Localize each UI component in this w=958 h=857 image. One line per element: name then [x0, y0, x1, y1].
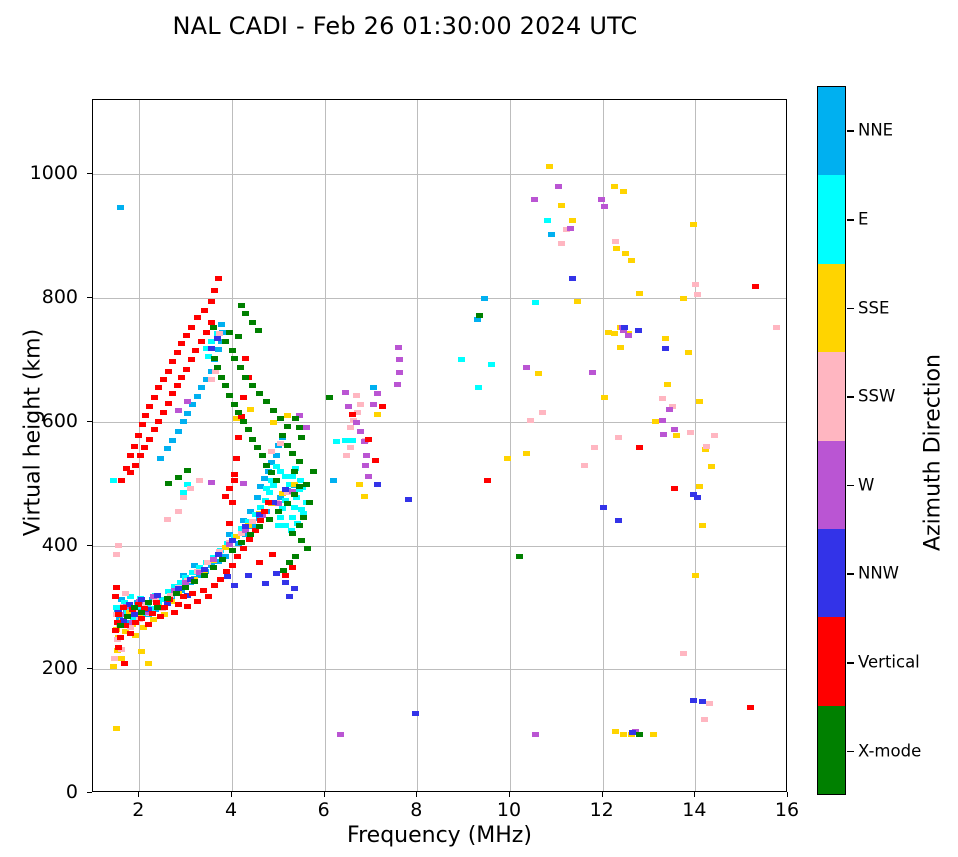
y-axis-tick: [87, 792, 92, 793]
scatter-point: [353, 393, 360, 398]
scatter-point: [184, 399, 191, 404]
scatter-point: [249, 383, 256, 388]
scatter-point: [303, 482, 310, 487]
scatter-point: [261, 476, 268, 481]
scatter-point: [591, 445, 598, 450]
scatter-point: [687, 430, 694, 435]
scatter-point: [773, 325, 780, 330]
scatter-point: [231, 583, 238, 588]
scatter-point: [662, 346, 669, 351]
scatter-point: [235, 334, 242, 339]
scatter-point: [289, 565, 296, 570]
scatter-point: [184, 411, 191, 416]
scatter-point: [690, 698, 697, 703]
scatter-point: [349, 412, 356, 417]
scatter-point: [191, 579, 198, 584]
scatter-point: [370, 385, 377, 390]
scatter-point: [574, 299, 581, 304]
x-axis-tick-label: 12: [590, 799, 614, 821]
scatter-point: [671, 486, 678, 491]
scatter-point: [205, 594, 212, 599]
scatter-point: [171, 610, 178, 615]
scatter-point: [476, 313, 483, 318]
scatter-point: [601, 395, 608, 400]
scatter-point: [226, 486, 233, 491]
scatter-point: [137, 453, 144, 458]
scatter-point: [673, 433, 680, 438]
scatter-point: [210, 565, 217, 570]
scatter-point: [474, 317, 481, 322]
scatter-point: [353, 420, 360, 425]
colorbar-label-w: W: [858, 475, 874, 494]
scatter-point: [535, 371, 542, 376]
colorbar-segment-x-mode[interactable]: [818, 706, 845, 794]
scatter-point: [257, 518, 264, 523]
scatter-point: [277, 441, 284, 446]
colorbar-tick: [847, 662, 854, 664]
scatter-point: [330, 478, 337, 483]
scatter-point: [629, 730, 636, 735]
scatter-point: [696, 484, 703, 489]
scatter-point: [122, 591, 129, 596]
scatter-point: [229, 348, 236, 353]
scatter-point: [270, 483, 277, 488]
scatter-point: [145, 661, 152, 666]
scatter-point: [396, 370, 403, 375]
scatter-point: [229, 563, 236, 568]
scatter-point: [612, 729, 619, 734]
scatter-point: [164, 517, 171, 522]
scatter-point: [211, 583, 218, 588]
scatter-point: [611, 331, 618, 336]
scatter-point: [161, 605, 168, 610]
scatter-point: [208, 346, 215, 351]
scatter-point: [254, 445, 261, 450]
scatter-point: [149, 611, 156, 616]
scatter-point: [233, 456, 240, 461]
scatter-point: [292, 416, 299, 421]
scatter-point: [256, 391, 263, 396]
scatter-point: [532, 732, 539, 737]
scatter-point: [613, 246, 620, 251]
scatter-point: [237, 365, 244, 370]
scatter-point: [180, 419, 187, 424]
scatter-point: [223, 569, 230, 574]
scatter-point: [238, 540, 245, 545]
scatter-point: [531, 197, 538, 202]
colorbar-tick: [847, 308, 854, 310]
scatter-point: [696, 399, 703, 404]
scatter-point: [333, 439, 340, 444]
scatter-point: [145, 600, 152, 605]
x-axis-tick: [602, 792, 603, 797]
scatter-point: [617, 345, 624, 350]
y-axis-tick: [87, 545, 92, 546]
scatter-point: [131, 612, 138, 617]
scatter-point: [692, 282, 699, 287]
scatter-point: [138, 649, 145, 654]
colorbar-label-x-mode: X-mode: [858, 741, 921, 760]
scatter-point: [345, 404, 352, 409]
scatter-point: [112, 628, 119, 633]
y-axis-tick: [87, 421, 92, 422]
scatter-point: [396, 357, 403, 362]
scatter-point: [217, 577, 224, 582]
scatter-point: [544, 218, 551, 223]
colorbar-tick: [847, 396, 854, 398]
scatter-point: [484, 478, 491, 483]
scatter-point: [635, 328, 642, 333]
scatter-point: [178, 375, 185, 380]
scatter-point: [374, 482, 381, 487]
scatter-point: [458, 357, 465, 362]
scatter-point: [117, 635, 124, 640]
scatter-point: [184, 604, 191, 609]
scatter-point: [226, 521, 233, 526]
colorbar-segment-ssw[interactable]: [818, 352, 845, 440]
scatter-point: [342, 390, 349, 395]
scatter-point: [620, 732, 627, 737]
scatter-point: [196, 478, 203, 483]
scatter-point: [249, 519, 256, 524]
scatter-point: [605, 330, 612, 335]
scatter-point: [135, 433, 142, 438]
scatter-point: [242, 356, 249, 361]
scatter-point: [208, 299, 215, 304]
scatter-point: [261, 509, 268, 514]
colorbar-tick: [847, 485, 854, 487]
scatter-point: [699, 523, 706, 528]
scatter-point: [246, 537, 253, 542]
scatter-point: [625, 333, 632, 338]
y-axis-tick-label: 1000: [0, 162, 78, 184]
scatter-point: [112, 594, 119, 599]
scatter-point: [127, 470, 134, 475]
x-axis-tick-label: 8: [410, 799, 422, 821]
scatter-point: [165, 401, 172, 406]
scatter-point: [222, 383, 229, 388]
scatter-point: [282, 474, 289, 479]
scatter-point: [269, 552, 276, 557]
colorbar-title: Azimuth Direction: [921, 223, 946, 683]
scatter-point: [121, 661, 128, 666]
scatter-point: [113, 552, 120, 557]
scatter-point: [201, 308, 208, 313]
scatter-point: [194, 315, 201, 320]
scatter-point: [268, 449, 275, 454]
scatter-point: [229, 500, 236, 505]
scatter-point: [379, 404, 386, 409]
scatter-point: [231, 478, 238, 483]
scatter-point: [548, 232, 555, 237]
scatter-point: [110, 478, 117, 483]
scatter-point: [249, 320, 256, 325]
scatter-point: [356, 482, 363, 487]
scatter-point: [175, 509, 182, 514]
scatter-point: [192, 348, 199, 353]
scatter-point: [154, 593, 161, 598]
scatter-point: [169, 438, 176, 443]
scatter-point: [188, 357, 195, 362]
colorbar-tick: [847, 130, 854, 132]
scatter-point: [210, 557, 217, 562]
scatter-point: [284, 501, 291, 506]
scatter-point: [188, 325, 195, 330]
colorbar-segment-nnw[interactable]: [818, 529, 845, 617]
scatter-point: [242, 311, 249, 316]
scatter-point: [347, 445, 354, 450]
scatter-point: [685, 350, 692, 355]
scatter-point: [214, 336, 221, 341]
scatter-point: [532, 300, 539, 305]
scatter-point: [254, 495, 261, 500]
scatter-point: [154, 605, 161, 610]
scatter-point: [699, 699, 706, 704]
scatter-point: [289, 531, 296, 536]
scatter-point: [146, 404, 153, 409]
scatter-point: [203, 330, 210, 335]
scatter-point: [539, 410, 546, 415]
scatter-point: [175, 408, 182, 413]
scatter-point: [671, 427, 678, 432]
scatter-point: [711, 433, 718, 438]
scatter-point: [291, 492, 298, 497]
scatter-point: [361, 494, 368, 499]
scatter-point: [277, 416, 284, 421]
x-axis-tick: [416, 792, 417, 797]
scatter-point: [601, 204, 608, 209]
scatter-point: [326, 395, 333, 400]
scatter-point: [222, 339, 229, 344]
scatter-point: [365, 437, 372, 442]
scatter-point: [256, 524, 263, 529]
scatter-point: [690, 222, 697, 227]
scatter-point: [370, 402, 377, 407]
scatter-point: [138, 616, 145, 621]
scatter-point: [201, 567, 208, 572]
x-axis-tick: [694, 792, 695, 797]
scatter-point: [238, 303, 245, 308]
scatter-point: [180, 594, 187, 599]
scatter-point: [289, 451, 296, 456]
figure-root: NAL CADI - Feb 26 01:30:00 2024 UTC 2468…: [0, 0, 958, 857]
x-axis-tick: [138, 792, 139, 797]
colorbar-segment-w[interactable]: [818, 441, 845, 529]
scatter-point: [131, 444, 138, 449]
scatter-point: [598, 197, 605, 202]
scatter-point: [226, 330, 233, 335]
scatter-point: [273, 464, 280, 469]
scatter-point: [270, 420, 277, 425]
x-axis-tick-label: 6: [318, 799, 330, 821]
scatter-point: [747, 705, 754, 710]
scatter-point: [169, 359, 176, 364]
scatter-point: [131, 605, 138, 610]
x-axis-tick: [324, 792, 325, 797]
scatter-point: [310, 469, 317, 474]
scatter-point: [523, 451, 530, 456]
scatter-point: [286, 560, 293, 565]
scatter-point: [132, 620, 139, 625]
scatter-point: [659, 418, 666, 423]
scatter-point: [127, 453, 134, 458]
scatter-point: [636, 732, 643, 737]
scatter-point: [231, 402, 238, 407]
scatter-point: [405, 497, 412, 502]
scatter-point: [275, 509, 282, 514]
scatter-point: [282, 523, 289, 528]
x-axis-tick-label: 14: [682, 799, 706, 821]
scatter-point: [210, 325, 217, 330]
scatter-point: [365, 474, 372, 479]
scatter-point: [303, 425, 310, 430]
scatter-point: [708, 464, 715, 469]
scatter-point: [621, 325, 628, 330]
scatter-point: [224, 574, 231, 579]
scatter-point: [164, 596, 171, 601]
scatter-point: [615, 518, 622, 523]
scatter-point: [692, 573, 699, 578]
scatter-point: [146, 437, 153, 442]
scatter-point: [694, 495, 701, 500]
scatter-point: [268, 470, 275, 475]
scatter-point: [127, 631, 134, 636]
colorbar-label-nnw: NNW: [858, 564, 899, 583]
scatter-point: [208, 480, 215, 485]
scatter-point: [111, 656, 118, 661]
scatter-point: [277, 515, 284, 520]
scatter-point: [394, 382, 401, 387]
scatter-point: [240, 395, 247, 400]
scatter-point: [113, 585, 120, 590]
scatter-point: [117, 623, 124, 628]
scatter-point: [242, 524, 249, 529]
scatter-point: [343, 453, 350, 458]
scatter-point: [275, 523, 282, 528]
scatter-point: [263, 399, 270, 404]
scatter-point: [266, 517, 273, 522]
scatter-point: [256, 560, 263, 565]
scatter-point: [569, 218, 576, 223]
scatter-point: [280, 568, 287, 573]
scatter-point: [165, 369, 172, 374]
scatter-point: [211, 356, 218, 361]
scatter-point: [374, 412, 381, 417]
y-axis-tick: [87, 173, 92, 174]
scatter-point: [300, 515, 307, 520]
colorbar-segment-sse[interactable]: [818, 264, 845, 352]
scatter-point: [173, 591, 180, 596]
scatter-point: [357, 402, 364, 407]
x-axis-title: Frequency (MHz): [92, 823, 787, 848]
scatter-point: [249, 437, 256, 442]
scatter-point: [284, 443, 291, 448]
scatter-point: [703, 444, 710, 449]
scatter-point: [142, 413, 149, 418]
scatter-point: [226, 393, 233, 398]
scatter-point: [374, 391, 381, 396]
scatter-point: [349, 438, 356, 443]
scatter-point: [527, 418, 534, 423]
scatter-point: [174, 350, 181, 355]
y-axis-tick-label: 0: [0, 781, 78, 803]
scatter-point: [245, 427, 252, 432]
scatter-point: [589, 370, 596, 375]
scatter-point: [666, 407, 673, 412]
scatter-point: [546, 164, 553, 169]
x-axis-tick: [787, 792, 788, 797]
scatter-point: [279, 433, 286, 438]
scatter-point: [247, 532, 254, 537]
scatter-point: [363, 453, 370, 458]
x-axis-tick: [231, 792, 232, 797]
scatter-point: [240, 419, 247, 424]
colorbar-segment-vertical[interactable]: [818, 617, 845, 705]
scatter-point: [231, 472, 238, 477]
scatter-point: [296, 523, 303, 528]
colorbar-segment-e[interactable]: [818, 175, 845, 263]
colorbar-label-e: E: [858, 209, 868, 228]
scatter-point: [277, 469, 284, 474]
scatter-point: [292, 554, 299, 559]
scatter-point: [132, 463, 139, 468]
scatter-point: [662, 336, 669, 341]
scatter-point: [488, 362, 495, 367]
scatter-point: [694, 292, 701, 297]
scatter-point: [273, 571, 280, 576]
scatter-point: [555, 184, 562, 189]
scatter-point: [558, 241, 565, 246]
scatter-point: [182, 585, 189, 590]
scatter-point: [187, 486, 194, 491]
colorbar-label-nne: NNE: [858, 121, 893, 140]
scatter-point: [357, 429, 364, 434]
scatter-point: [263, 486, 270, 491]
scatter-point: [229, 548, 236, 553]
scatter-point: [229, 538, 236, 543]
scatter-point: [110, 664, 117, 669]
x-axis-tick-label: 10: [497, 799, 521, 821]
scatter-point: [180, 495, 187, 500]
y-axis-tick: [87, 668, 92, 669]
scatter-point: [240, 481, 247, 486]
scatter-point: [151, 395, 158, 400]
colorbar-segment-nne[interactable]: [818, 87, 845, 175]
scatter-point: [286, 594, 293, 599]
colorbar[interactable]: [817, 86, 846, 795]
scatter-point: [141, 445, 148, 450]
scatter-point: [183, 333, 190, 338]
scatter-point: [215, 347, 222, 352]
scatter-point: [600, 505, 607, 510]
scatter-point: [481, 296, 488, 301]
scatter-point: [289, 474, 296, 479]
scatter-point: [282, 487, 289, 492]
scatter-point: [558, 203, 565, 208]
scatter-point: [362, 463, 369, 468]
scatter-point: [194, 394, 201, 399]
scatter-point: [139, 422, 146, 427]
scatter-point: [504, 456, 511, 461]
scatter-point: [620, 189, 627, 194]
scatter-point: [296, 459, 303, 464]
scatter-point: [198, 385, 205, 390]
scatter-point: [175, 429, 182, 434]
scatter-point: [151, 427, 158, 432]
scatter-point: [298, 538, 305, 543]
colorbar-tick: [847, 219, 854, 221]
scatter-point: [636, 445, 643, 450]
